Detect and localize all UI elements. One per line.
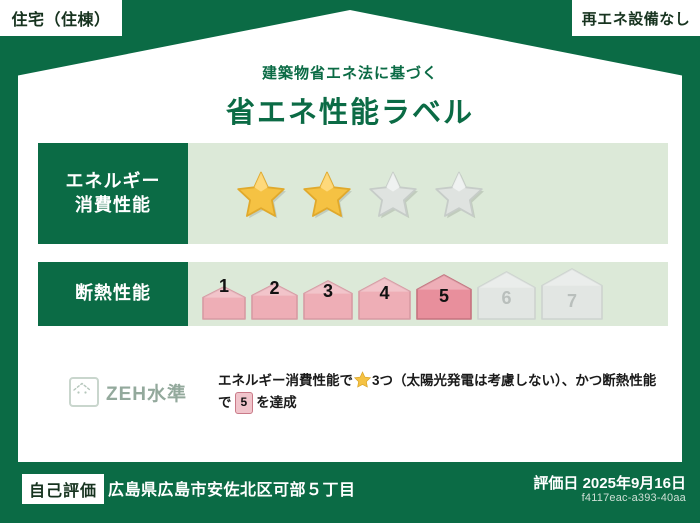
zeh-standard-section: ZEH水準 エネルギー消費性能で3つ（太陽光発電は考慮しない）、かつ断熱性能で5…	[38, 362, 668, 422]
label-footer: 自己評価 広島県広島市安佐北区可部５丁目 評価日 2025年9月16日 f411…	[0, 462, 700, 523]
insulation-grade-number: 4	[358, 283, 411, 304]
zeh-desc-part1: エネルギー消費性能で	[218, 373, 353, 388]
label-title: 省エネ性能ラベル	[0, 89, 700, 131]
insulation-grade-3: 3	[303, 268, 353, 320]
insulation-grade-2: 2	[251, 268, 298, 320]
energy-row-label-line1: エネルギー	[66, 170, 161, 193]
insulation-row-label: 断熱性能	[38, 262, 188, 326]
zeh-badge: ZEH水準	[38, 377, 218, 407]
insulation-grade-number: 6	[477, 288, 536, 309]
insulation-grade-number: 5	[416, 286, 472, 307]
zeh-desc-grade: 5	[235, 392, 254, 414]
renewable-equipment-tag: 再エネ設備なし	[570, 0, 700, 38]
insulation-grade-7: 7	[541, 268, 603, 320]
evaluation-date-label: 評価日	[533, 475, 578, 492]
insulation-grade-number: 1	[202, 276, 246, 297]
self-evaluation-badge: 自己評価	[22, 474, 104, 504]
insulation-grade-number: 3	[303, 281, 353, 302]
zeh-desc-part3: を達成	[256, 395, 297, 410]
star-icon-empty	[432, 168, 486, 220]
zeh-description: エネルギー消費性能で3つ（太陽光発電は考慮しない）、かつ断熱性能で5を達成	[218, 370, 668, 415]
insulation-grade-6: 6	[477, 268, 536, 320]
zeh-label: ZEH水準	[106, 379, 187, 406]
star-icon-filled	[234, 168, 288, 220]
energy-row-label-line2: 消費性能	[75, 194, 151, 217]
evaluation-date-value: 2025年9月16日	[583, 475, 686, 492]
star-icon-empty	[366, 168, 420, 220]
insulation-grade-4: 4	[358, 268, 411, 320]
label-subtitle: 建築物省エネ法に基づく	[0, 62, 700, 83]
insulation-grade-5: 5	[416, 268, 472, 320]
energy-row-label: エネルギー 消費性能	[38, 143, 188, 244]
energy-performance-label: 住宅（住棟） 再エネ設備なし 建築物省エネ法に基づく 省エネ性能ラベル エネルギ…	[0, 0, 700, 523]
insulation-row-label-line1: 断熱性能	[75, 282, 151, 305]
insulation-grade-1: 1	[202, 268, 246, 320]
title-block: 建築物省エネ法に基づく 省エネ性能ラベル	[0, 62, 700, 131]
star-icon-filled	[300, 168, 354, 220]
evaluation-id: f4117eac-a393-40aa	[582, 492, 686, 504]
star-rating	[188, 143, 668, 244]
star-icon	[354, 371, 371, 388]
insulation-grade-scale: 1234567	[188, 262, 668, 326]
energy-performance-row: エネルギー 消費性能	[38, 143, 668, 244]
insulation-grade-number: 7	[541, 291, 603, 312]
zeh-house-icon	[69, 377, 99, 407]
insulation-grade-number: 2	[251, 278, 298, 299]
evaluation-date: 評価日 2025年9月16日	[533, 472, 686, 493]
property-address: 広島県広島市安佐北区可部５丁目	[108, 476, 356, 500]
insulation-performance-row: 断熱性能 1234567	[38, 262, 668, 326]
building-type-tag: 住宅（住棟）	[0, 0, 124, 38]
